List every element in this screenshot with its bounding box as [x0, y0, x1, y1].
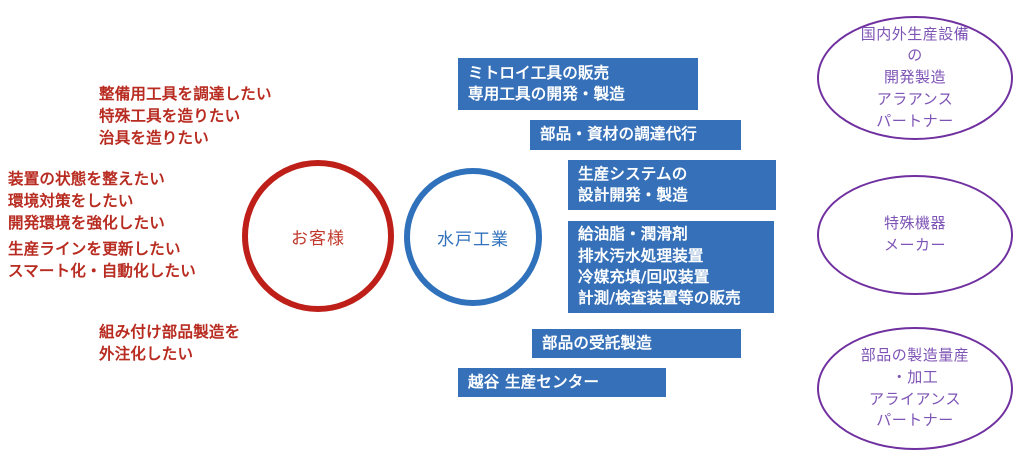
- customer-need-tools: 整備用工具を調達したい 特殊工具を造りたい 治具を造りたい: [99, 83, 272, 149]
- diagram-canvas: 整備用工具を調達したい 特殊工具を造りたい 治具を造りたい 装置の状態を整えたい…: [0, 0, 1024, 470]
- company-circle-label: 水戸工業: [437, 225, 509, 250]
- customer-need-production-line: 生産ラインを更新したい スマート化・自動化したい: [8, 238, 196, 282]
- service-box-equipment-sales[interactable]: 給油脂・潤滑剤 排水汚水処理装置 冷媒充填/回収装置 計測/検査装置等の販売: [568, 221, 774, 313]
- customer-need-environment: 装置の状態を整えたい 環境対策をしたい 開発環境を強化したい: [8, 168, 165, 234]
- service-box-procurement[interactable]: 部品・資材の調達代行: [530, 120, 741, 150]
- customer-circle-label: お客様: [291, 224, 345, 249]
- partner-ellipse-special-machinery[interactable]: 特殊機器 メーカー: [817, 175, 1013, 295]
- service-box-contract-manufacturing[interactable]: 部品の受託製造: [532, 329, 741, 358]
- service-box-koshigaya-center[interactable]: 越谷 生産センター: [458, 368, 666, 397]
- partner-ellipse-parts-manufacturing[interactable]: 部品の製造量産 ・加工 アライアンス パートナー: [817, 327, 1013, 450]
- company-circle[interactable]: 水戸工業: [404, 168, 542, 306]
- customer-need-outsourcing: 組み付け部品製造を 外注化したい: [99, 321, 240, 365]
- customer-circle[interactable]: お客様: [242, 160, 394, 312]
- partner-ellipse-equipment-development[interactable]: 国内外生産設備 の 開発製造 アラアンス パートナー: [817, 16, 1013, 140]
- service-box-production-system[interactable]: 生産システムの 設計開発・製造: [568, 160, 776, 210]
- service-box-tool-sales[interactable]: ミトロイ工具の販売 専用工具の開発・製造: [458, 58, 698, 110]
